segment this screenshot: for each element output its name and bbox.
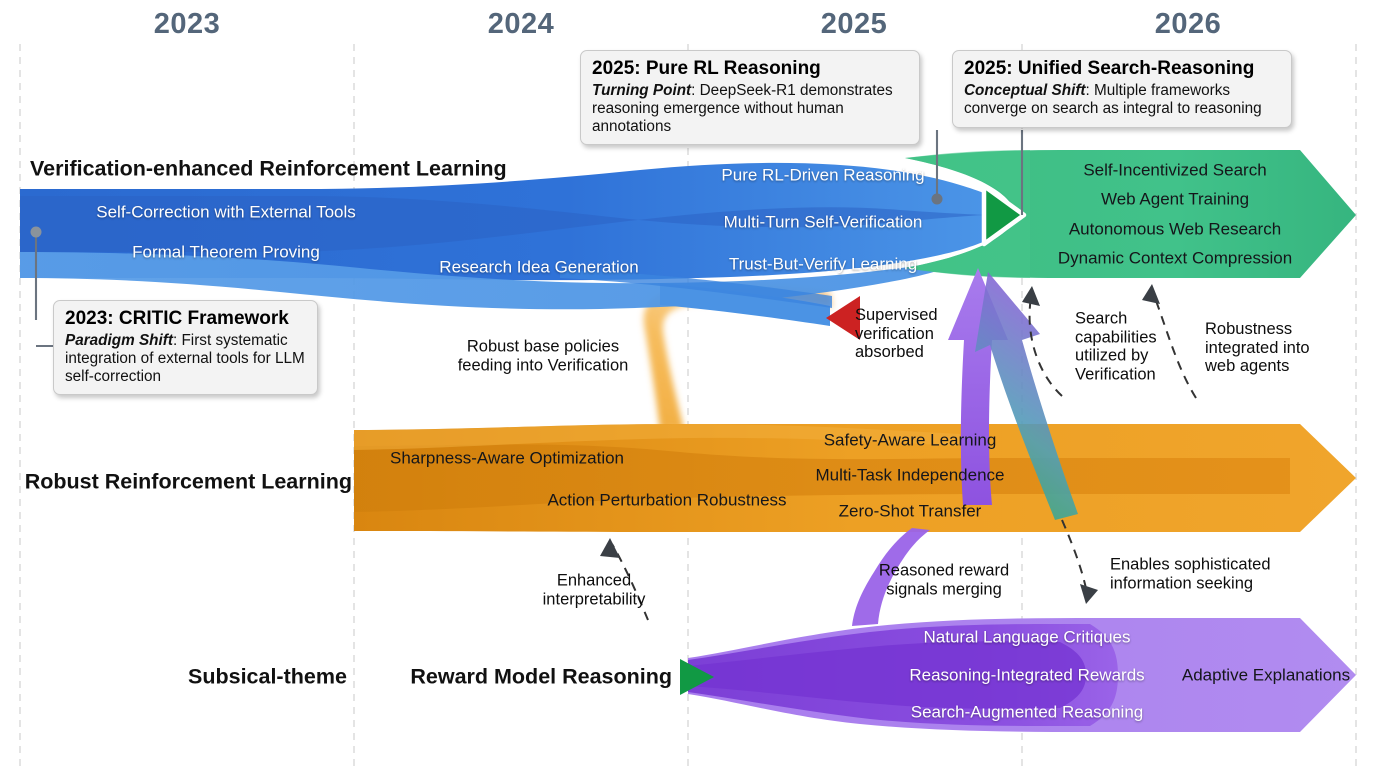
annot-supervised-verification-absorbed: Supervised verification absorbed [855, 306, 938, 362]
callout-lead: Turning Point [592, 82, 691, 99]
annot-robustness-web-agents: Robustness integrated into web agents [1205, 320, 1310, 376]
callout-critic-framework[interactable]: 2023: CRITIC Framework Paradigm Shift: F… [53, 300, 318, 395]
callout-title: 2025: Unified Search-Reasoning [964, 58, 1280, 81]
theme-label-verification: Verification-enhanced Reinforcement Lear… [30, 157, 507, 182]
year-label-2025: 2025 [821, 8, 888, 41]
annot-robust-base-policies: Robust base policies feeding into Verifi… [458, 337, 629, 374]
band-label-zero-shot-transfer: Zero-Shot Transfer [839, 501, 982, 520]
annot-enables-sophisticated: Enables sophisticated information seekin… [1110, 555, 1271, 592]
callout-title: 2023: CRITIC Framework [65, 308, 306, 331]
band-label-safety-aware-learning: Safety-Aware Learning [824, 430, 997, 449]
callout-lead: Paradigm Shift [65, 332, 173, 349]
theme-label-subsical: Subsical-theme [188, 665, 347, 690]
band-label-formal-theorem: Formal Theorem Proving [132, 242, 320, 261]
band-label-adaptive-explanations: Adaptive Explanations [1182, 665, 1350, 684]
band-label-search-augmented-reasoning: Search-Augmented Reasoning [911, 702, 1143, 721]
callout-unified-search-reasoning[interactable]: 2025: Unified Search-Reasoning Conceptua… [952, 50, 1292, 128]
theme-label-robust: Robust Reinforcement Learning [25, 470, 352, 495]
band-label-research-idea: Research Idea Generation [439, 257, 638, 276]
callout-body: Conceptual Shift: Multiple frameworks co… [964, 82, 1280, 118]
timeline-diagram-canvas: 2023 2024 2025 2026 Verification-enhance… [0, 0, 1376, 768]
band-label-web-agent-training: Web Agent Training [1101, 189, 1249, 208]
annot-search-capabilities: Search capabilities utilized by Verifica… [1075, 310, 1157, 385]
band-label-action-perturbation-robustness: Action Perturbation Robustness [547, 490, 786, 509]
year-label-2026: 2026 [1155, 8, 1222, 41]
band-label-dynamic-context-compression: Dynamic Context Compression [1058, 248, 1292, 267]
theme-label-reward-model: Reward Model Reasoning [410, 665, 672, 690]
annot-enhanced-interpretability: Enhanced interpretability [543, 571, 646, 608]
band-label-autonomous-web-research: Autonomous Web Research [1069, 219, 1281, 238]
band-label-self-correction: Self-Correction with External Tools [96, 202, 356, 221]
callout-pure-rl-reasoning[interactable]: 2025: Pure RL Reasoning Turning Point: D… [580, 50, 920, 145]
band-label-pure-rl-driven: Pure RL-Driven Reasoning [721, 165, 924, 184]
annot-reasoned-reward-signals: Reasoned reward signals merging [879, 561, 1009, 598]
band-label-sharpness-aware-optimization: Sharpness-Aware Optimization [390, 448, 624, 467]
band-label-self-incentivized-search: Self-Incentivized Search [1083, 160, 1266, 179]
band-label-multi-task-independence: Multi-Task Independence [815, 465, 1004, 484]
callout-body: Paradigm Shift: First systematic integra… [65, 332, 306, 386]
band-label-trust-but-verify: Trust-But-Verify Learning [729, 254, 917, 273]
callout-title: 2025: Pure RL Reasoning [592, 58, 908, 81]
band-label-natural-language-critiques: Natural Language Critiques [924, 627, 1131, 646]
callout-body: Turning Point: DeepSeek-R1 demonstrates … [592, 82, 908, 136]
band-label-reasoning-integrated-rewards: Reasoning-Integrated Rewards [909, 665, 1144, 684]
band-label-multi-turn-self-verification: Multi-Turn Self-Verification [724, 212, 923, 231]
year-label-2024: 2024 [488, 8, 555, 41]
year-label-2023: 2023 [154, 8, 221, 41]
callout-lead: Conceptual Shift [964, 82, 1086, 99]
